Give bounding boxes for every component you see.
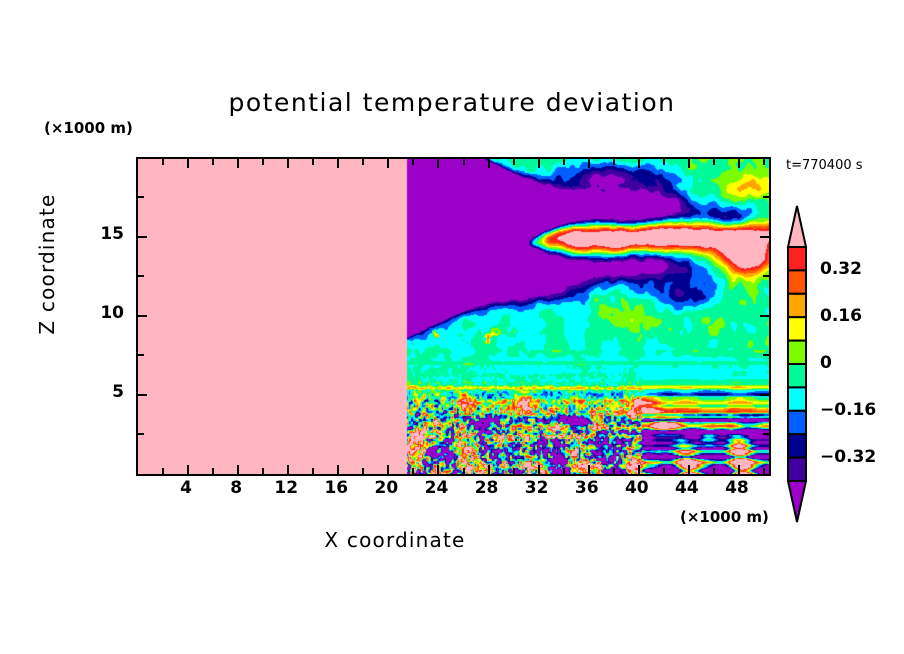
x-tick-major <box>287 465 289 474</box>
y-tick-major <box>138 394 147 396</box>
x-tick-label: 28 <box>467 478 507 498</box>
y-tick-label: 5 <box>84 382 124 402</box>
colorbar <box>782 205 812 523</box>
y-tick-minor-right <box>763 433 769 435</box>
x-tick-major <box>337 465 339 474</box>
x-tick-minor <box>613 468 615 474</box>
x-tick-label: 20 <box>366 478 406 498</box>
y-tick-major-right <box>760 394 769 396</box>
y-tick-minor <box>138 433 144 435</box>
x-tick-minor-top <box>362 159 364 165</box>
x-tick-major-top <box>638 159 640 168</box>
x-tick-minor-top <box>412 159 414 165</box>
colorbar-tick-label: 0.32 <box>820 259 862 279</box>
colorbar-tick-label: 0 <box>820 353 832 373</box>
x-tick-major-top <box>588 159 590 168</box>
contour-field-canvas <box>138 159 769 474</box>
x-tick-label: 8 <box>216 478 256 498</box>
x-tick-minor <box>563 468 565 474</box>
x-tick-minor <box>262 468 264 474</box>
colorbar-tick-label: 0.16 <box>820 306 862 326</box>
colorbar-tick-label: −0.16 <box>820 400 876 420</box>
x-tick-major-top <box>287 159 289 168</box>
y-tick-minor <box>138 354 144 356</box>
x-tick-minor-top <box>312 159 314 165</box>
x-tick-minor-top <box>463 159 465 165</box>
page-title: potential temperature deviation <box>0 88 904 117</box>
x-tick-major <box>488 465 490 474</box>
x-tick-major-top <box>688 159 690 168</box>
y-tick-minor-right <box>763 196 769 198</box>
y-tick-major <box>138 236 147 238</box>
x-tick-major <box>437 465 439 474</box>
x-tick-major <box>588 465 590 474</box>
x-tick-label: 32 <box>517 478 557 498</box>
x-tick-minor-top <box>763 159 765 165</box>
x-tick-major-top <box>738 159 740 168</box>
y-tick-minor <box>138 275 144 277</box>
y-tick-label: 10 <box>84 303 124 323</box>
x-tick-minor <box>312 468 314 474</box>
y-tick-major-right <box>760 236 769 238</box>
x-tick-minor <box>463 468 465 474</box>
y-axis-title: Z coordinate <box>35 184 59 344</box>
y-tick-major <box>138 315 147 317</box>
x-tick-minor-top <box>513 159 515 165</box>
x-tick-label: 4 <box>166 478 206 498</box>
x-tick-major-top <box>488 159 490 168</box>
x-tick-major <box>538 465 540 474</box>
x-tick-major-top <box>437 159 439 168</box>
y-axis-unit-label: (×1000 m) <box>44 119 133 137</box>
x-tick-minor <box>212 468 214 474</box>
x-tick-label: 48 <box>717 478 757 498</box>
x-tick-major-top <box>337 159 339 168</box>
x-tick-minor-top <box>713 159 715 165</box>
x-tick-minor-top <box>563 159 565 165</box>
x-tick-minor <box>663 468 665 474</box>
x-tick-minor <box>362 468 364 474</box>
x-tick-label: 36 <box>567 478 607 498</box>
x-tick-major <box>688 465 690 474</box>
x-tick-label: 24 <box>416 478 456 498</box>
y-tick-minor-right <box>763 354 769 356</box>
x-tick-minor-top <box>162 159 164 165</box>
x-tick-major <box>638 465 640 474</box>
x-tick-major <box>738 465 740 474</box>
x-tick-major-top <box>187 159 189 168</box>
x-tick-minor-top <box>613 159 615 165</box>
x-tick-minor <box>763 468 765 474</box>
x-tick-minor-top <box>663 159 665 165</box>
timestamp-label: t=770400 s <box>786 158 863 173</box>
colorbar-tick-label: −0.32 <box>820 447 876 467</box>
contour-plot-area <box>136 157 771 476</box>
y-tick-major-right <box>760 315 769 317</box>
x-axis-unit-label: (×1000 m) <box>680 508 769 526</box>
x-tick-minor <box>713 468 715 474</box>
x-tick-label: 12 <box>266 478 306 498</box>
x-tick-major <box>237 465 239 474</box>
x-tick-minor <box>412 468 414 474</box>
x-tick-major <box>387 465 389 474</box>
x-tick-major <box>187 465 189 474</box>
x-tick-major-top <box>237 159 239 168</box>
x-tick-minor <box>513 468 515 474</box>
y-tick-minor <box>138 196 144 198</box>
y-tick-label: 15 <box>84 224 124 244</box>
x-tick-minor <box>162 468 164 474</box>
x-tick-major-top <box>538 159 540 168</box>
x-axis-title: X coordinate <box>0 528 790 552</box>
x-tick-label: 44 <box>667 478 707 498</box>
x-tick-label: 16 <box>316 478 356 498</box>
x-tick-label: 40 <box>617 478 657 498</box>
x-tick-major-top <box>387 159 389 168</box>
x-tick-minor-top <box>262 159 264 165</box>
x-tick-minor-top <box>212 159 214 165</box>
y-tick-minor-right <box>763 275 769 277</box>
